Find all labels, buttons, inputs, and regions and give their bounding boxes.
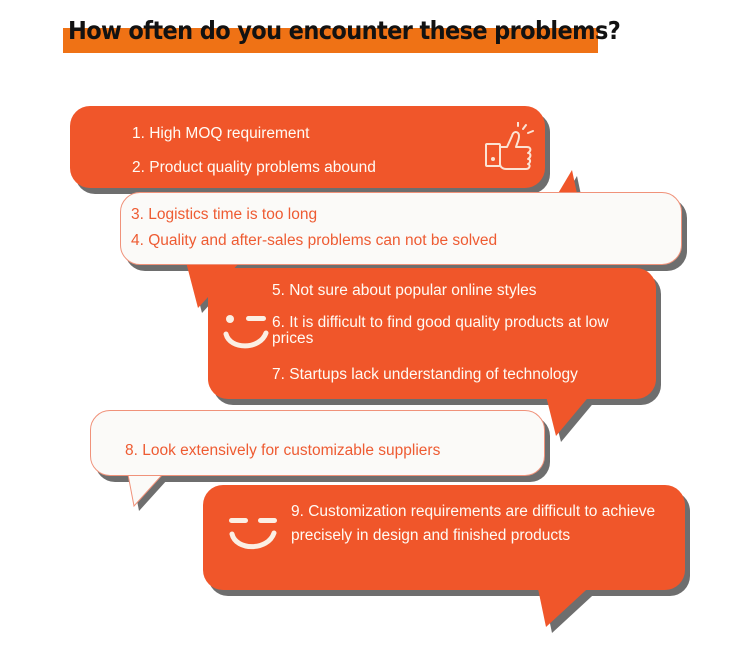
bubble-1-line-1: 1. High MOQ requirement	[132, 125, 309, 142]
smiling-face-icon	[222, 510, 284, 562]
bubble-3-line-1: 5. Not sure about popular online styles	[272, 282, 537, 299]
bubble-1-line-2: 2. Product quality problems abound	[132, 159, 376, 176]
speech-bubble-1: 1. High MOQ requirement 2. Product quali…	[70, 106, 545, 188]
bubble-3-line-2: 6. It is difficult to find good quality …	[272, 315, 647, 348]
page-title: How often do you encounter these problem…	[68, 16, 608, 45]
bubble-2-line-2: 4. Quality and after-sales problems can …	[131, 232, 497, 249]
speech-bubble-5: 9. Customization requirements are diffic…	[203, 485, 685, 590]
bubble-2-line-1: 3. Logistics time is too long	[131, 206, 317, 223]
speech-bubble-3: 5. Not sure about popular online styles …	[208, 268, 656, 399]
bubble-3-line-3: 7. Startups lack understanding of techno…	[272, 366, 578, 383]
winking-face-icon	[216, 308, 278, 360]
speech-bubble-2: 3. Logistics time is too long 4. Quality…	[120, 192, 682, 265]
page-header: How often do you encounter these problem…	[0, 0, 750, 70]
speech-bubble-4: 8. Look extensively for customizable sup…	[90, 410, 545, 476]
thumbs-up-icon	[482, 122, 538, 174]
bubble-4-line-1: 8. Look extensively for customizable sup…	[125, 442, 440, 459]
bubble-5-line-1: 9. Customization requirements are diffic…	[291, 500, 663, 548]
